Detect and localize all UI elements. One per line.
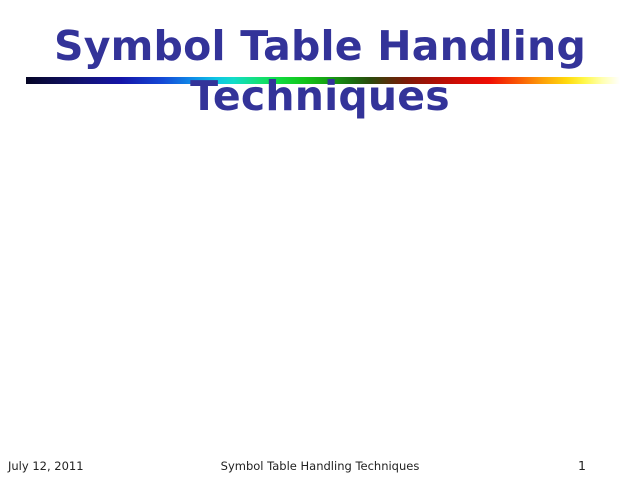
footer-title: Symbol Table Handling Techniques	[0, 458, 640, 474]
footer-page-number: 1	[578, 458, 614, 474]
slide: Symbol Table Handling Techniques July 12…	[0, 0, 640, 480]
slide-content-area	[26, 140, 620, 440]
title-line-1: Symbol Table Handling	[0, 22, 640, 70]
slide-footer: July 12, 2011 Symbol Table Handling Tech…	[0, 458, 640, 478]
title-line-2: Techniques	[0, 72, 640, 120]
slide-title: Symbol Table Handling Techniques	[0, 22, 640, 120]
